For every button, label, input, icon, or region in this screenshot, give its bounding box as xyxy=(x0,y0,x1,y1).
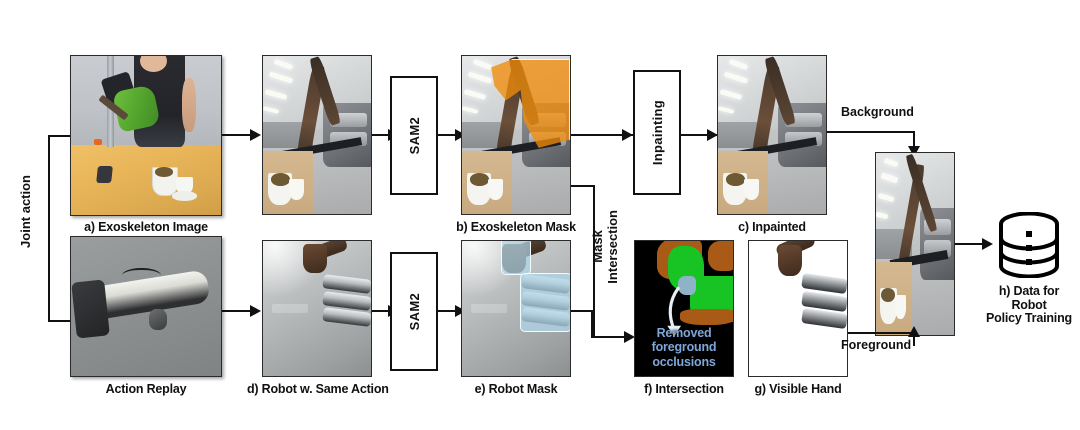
panel-action-replay xyxy=(70,236,222,377)
exoskeleton-mask-scene xyxy=(462,56,570,214)
exoskeleton-scene xyxy=(71,56,221,215)
caption-visible-hand: g) Visible Hand xyxy=(738,383,858,397)
edge-replay-to-d xyxy=(222,310,252,312)
joint-action-branch-bottom xyxy=(48,320,72,322)
intersection-overlay-text: Removed foreground occlusions xyxy=(635,326,733,370)
mask-overlay-robot-tool xyxy=(501,240,531,275)
panel-exoskeleton-wristview xyxy=(262,55,372,215)
robot-wrist-scene xyxy=(263,241,371,376)
panel-inpainted xyxy=(717,55,827,215)
process-box-sam2-top-label: SAM2 xyxy=(407,117,422,154)
caption-exoskeleton-mask: b) Exoskeleton Mask xyxy=(451,221,581,235)
panel-robot-mask xyxy=(461,240,571,377)
process-box-sam2-bottom-label: SAM2 xyxy=(407,293,422,330)
mask-overlay-robot-fingers xyxy=(520,273,571,332)
process-box-inpainting[interactable]: Inpainting xyxy=(633,70,681,195)
database-icon xyxy=(998,212,1060,278)
foreground-label: Foreground xyxy=(841,338,911,352)
joint-action-trunk xyxy=(48,135,50,322)
edge-foreground-arrow xyxy=(908,326,920,337)
edge-composite-to-db-arrow xyxy=(982,238,993,250)
process-box-sam2-bottom[interactable]: SAM2 xyxy=(390,252,438,371)
panel-exoskeleton-mask xyxy=(461,55,571,215)
panel-visible-hand xyxy=(748,240,848,377)
edge-foreground xyxy=(848,332,914,334)
caption-action-replay: Action Replay xyxy=(70,383,222,397)
wrist-camera-scene xyxy=(263,56,371,214)
inpainted-scene xyxy=(718,56,826,214)
action-replay-scene xyxy=(71,237,221,376)
composite-scene xyxy=(876,153,954,335)
edge-a-to-sam2-arrow xyxy=(250,129,261,141)
edge-b-branch-out xyxy=(571,185,595,187)
caption-data-for-robot-policy-training: h) Data for Robot Policy Training xyxy=(968,285,1080,326)
edge-e-to-intersection xyxy=(571,310,593,312)
caption-exoskeleton-image: a) Exoskeleton Image xyxy=(70,221,222,235)
panel-exoskeleton-image xyxy=(70,55,222,216)
panel-intersection: Removed foreground occlusions xyxy=(634,240,734,377)
caption-inpainted: c) Inpainted xyxy=(717,221,827,235)
edge-replay-to-d-arrow xyxy=(250,305,261,317)
edge-b-to-inpainting-arrow xyxy=(622,129,633,141)
figure-canvas: Joint action a) Exoskeleton Image xyxy=(0,0,1080,430)
caption-robot-mask: e) Robot Mask xyxy=(461,383,571,397)
visible-hand-scene xyxy=(749,241,847,376)
panel-composite-result xyxy=(875,152,955,336)
caption-robot-same-action: d) Robot w. Same Action xyxy=(247,383,387,397)
process-box-inpainting-label: Inpainting xyxy=(650,100,665,165)
edge-background xyxy=(827,131,915,133)
background-label: Background xyxy=(841,105,914,119)
joint-action-label: Joint action xyxy=(18,175,33,248)
joint-action-branch-top xyxy=(48,135,72,137)
panel-robot-same-action xyxy=(262,240,372,377)
robot-mask-scene xyxy=(462,241,570,376)
process-box-sam2-top[interactable]: SAM2 xyxy=(390,76,438,195)
mask-intersection-label: Mask Intersection xyxy=(590,210,620,284)
caption-intersection: f) Intersection xyxy=(624,383,744,397)
edge-e-to-intersection-down xyxy=(591,310,593,338)
edge-a-to-sam2 xyxy=(222,134,252,136)
